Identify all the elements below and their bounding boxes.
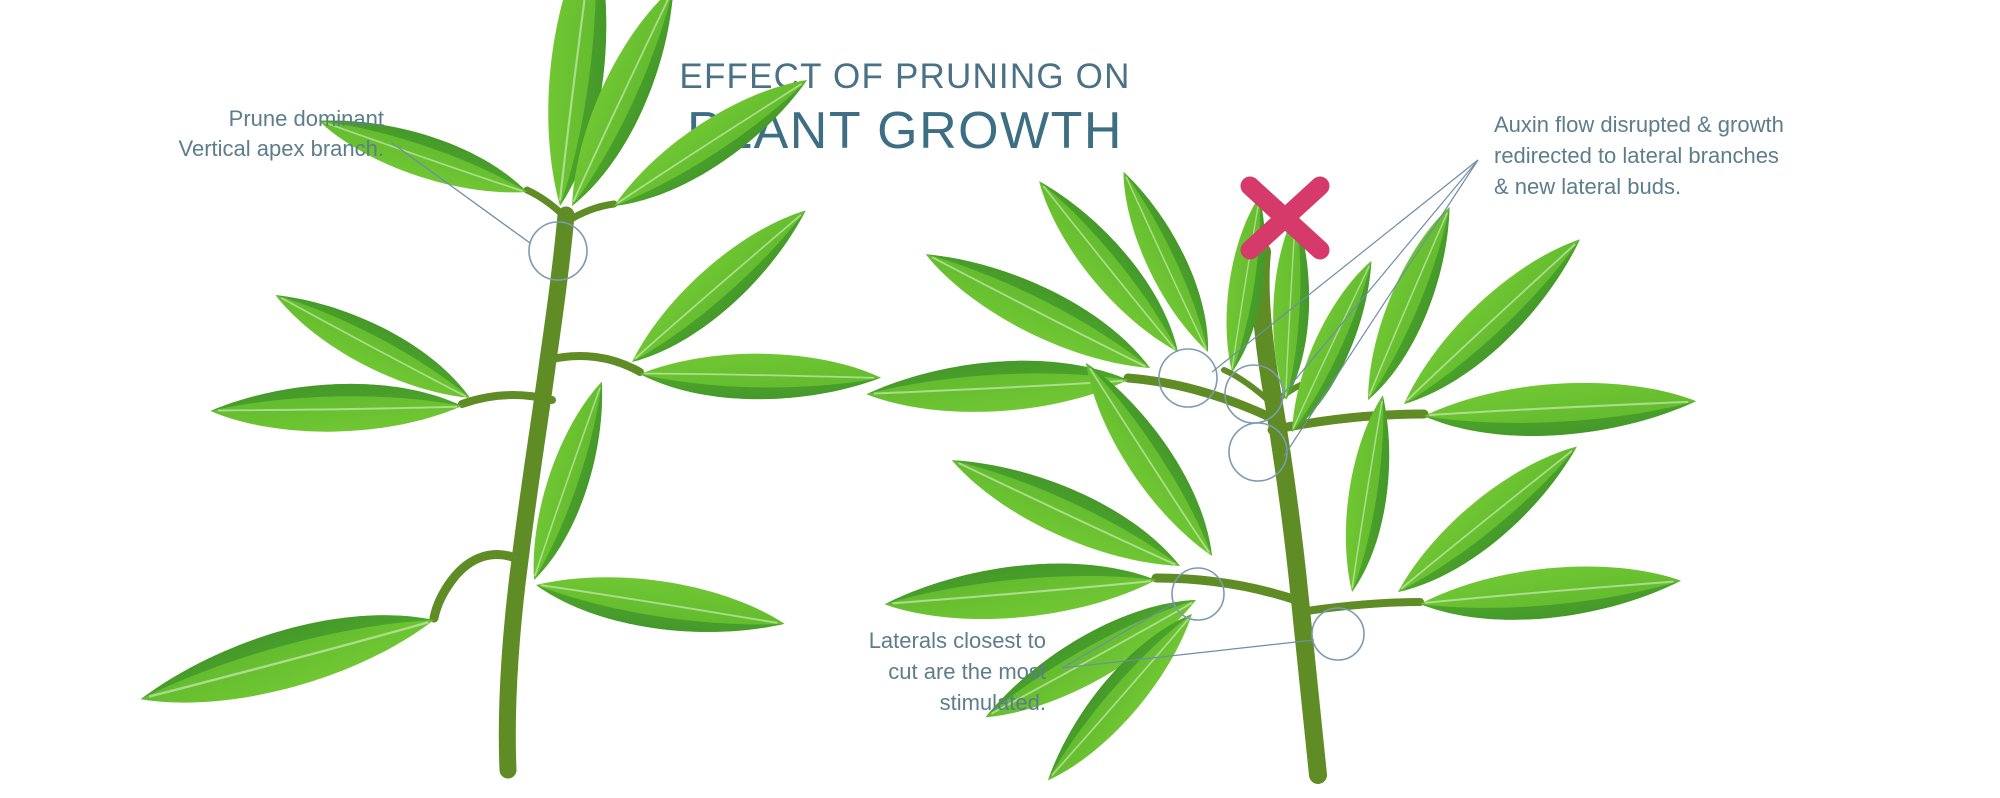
annotation-auxin-flow-line-3: & new lateral buds. xyxy=(1494,174,1681,199)
leaf xyxy=(638,334,882,419)
highlight-circle-upper-left xyxy=(1159,349,1217,407)
annotation-laterals-line-2: cut are the most xyxy=(888,659,1046,684)
left-plant-branch-mid-right xyxy=(548,356,640,372)
annotation-prune-apex-line-2: Vertical apex branch. xyxy=(179,136,384,161)
leaf xyxy=(611,202,828,371)
right-plant-branch-lower-right xyxy=(1300,602,1420,612)
annotation-auxin-flow-line-1: Auxin flow disrupted & growth xyxy=(1494,112,1784,137)
annotation-laterals-stimulated: Laterals closest to cut are the most sti… xyxy=(869,628,1046,715)
pruning-infographic: EFFECT OF PRUNING ON PLANT GROWTH xyxy=(0,0,2000,798)
annotation-auxin-flow: Auxin flow disrupted & growth redirected… xyxy=(1494,112,1784,199)
annotation-prune-apex-line-1: Prune dominant xyxy=(229,106,384,131)
right-plant-branch-lower-left xyxy=(1156,578,1302,602)
leaf xyxy=(533,545,788,666)
title-line-1: EFFECT OF PRUNING ON xyxy=(679,57,1130,96)
annotation-laterals-line-3: stimulated. xyxy=(940,690,1046,715)
annotation-laterals-line-1: Laterals closest to xyxy=(869,628,1046,653)
leaf xyxy=(1420,561,1682,626)
highlight-circle-lower-right xyxy=(1312,608,1364,660)
leaf xyxy=(884,557,1156,625)
leaf xyxy=(133,605,441,712)
infographic-canvas: EFFECT OF PRUNING ON PLANT GROWTH xyxy=(0,0,2000,798)
leaf xyxy=(1423,371,1697,448)
leaf xyxy=(866,349,1129,423)
right-plant-branch-upper-left xyxy=(1128,378,1276,420)
annotation-auxin-flow-line-2: redirected to lateral branches xyxy=(1494,143,1779,168)
